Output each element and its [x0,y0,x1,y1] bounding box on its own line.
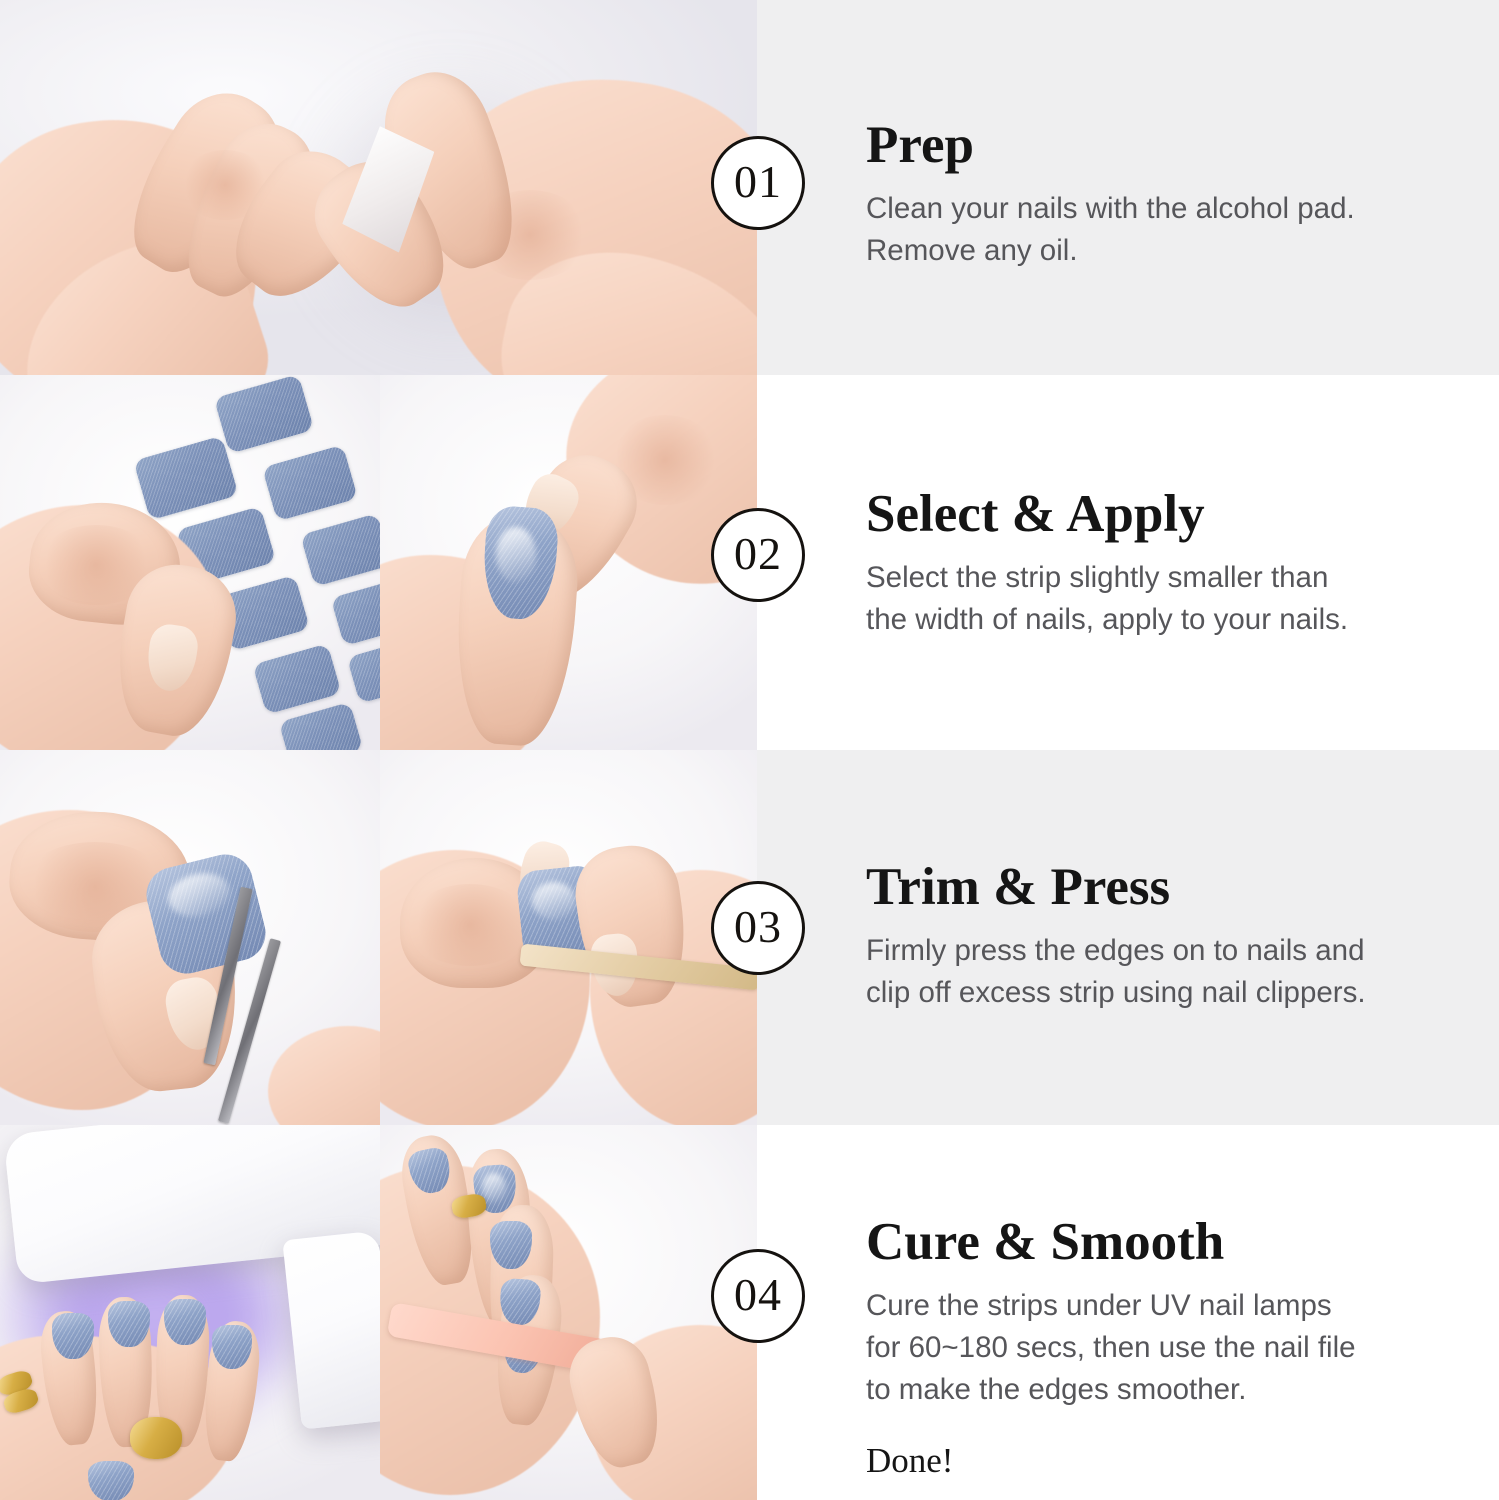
step-4-photo-group [0,1125,757,1500]
step-2-photo-group [0,375,757,750]
photo-nail-strip-sheet [0,375,380,750]
nail-gloss [496,527,536,583]
step-3-body-line: clip off excess strip using nail clipper… [866,972,1426,1014]
step-3-body: Firmly press the edges on to nails and c… [866,930,1426,1014]
step-1-copy: Prep Clean your nails with the alcohol p… [866,118,1426,272]
nail-gloss [532,882,576,920]
step-1-body-line: Remove any oil. [866,230,1426,272]
nail-gloss [482,1173,506,1203]
right-knuckle [470,190,590,280]
step-number-badge-4: 04 [711,1249,805,1343]
step-3-heading: Trim & Press [866,860,1426,916]
step-2-body-line: the width of nails, apply to your nails. [866,599,1426,641]
step-3-copy: Trim & Press Firmly press the edges on t… [866,860,1426,1014]
step-4-body-line: to make the edges smoother. [866,1369,1426,1411]
step-1-body-line: Clean your nails with the alcohol pad. [866,188,1426,230]
step-4-copy: Cure & Smooth Cure the strips under UV n… [866,1215,1426,1481]
photo-prep-alcohol-pad [0,0,757,375]
step-1-body: Clean your nails with the alcohol pad. R… [866,188,1426,272]
step-2-copy: Select & Apply Select the strip slightly… [866,487,1426,641]
gold-statement-ring [130,1417,182,1459]
step-2-body-line: Select the strip slightly smaller than [866,557,1426,599]
photo-apply-strip-to-nail [380,375,757,750]
step-4-footnote: Done! [866,1441,1426,1481]
step-1-heading: Prep [866,118,1426,174]
step-2-body: Select the strip slightly smaller than t… [866,557,1426,641]
step-1-photo-group [0,0,757,375]
step-4-heading: Cure & Smooth [866,1215,1426,1271]
step-number-badge-1: 01 [711,136,805,230]
photo-trim-with-scissors [0,750,380,1125]
photo-uv-lamp-curing [0,1125,380,1500]
photo-filing-nail-edges [380,1125,757,1500]
photo-press-with-wooden-stick [380,750,757,1125]
cured-nail-thumb [88,1461,134,1500]
nail-strip-instruction-infographic: 01 02 03 04 Prep Clean your nails with t… [0,0,1499,1500]
step-number-badge-3: 03 [711,881,805,975]
step-3-body-line: Firmly press the edges on to nails and [866,930,1426,972]
step-4-body-line: for 60~180 secs, then use the nail file [866,1327,1426,1369]
step-2-heading: Select & Apply [866,487,1426,543]
knuckle [610,415,720,505]
step-4-body: Cure the strips under UV nail lamps for … [866,1285,1426,1411]
step-4-body-line: Cure the strips under UV nail lamps [866,1285,1426,1327]
step-number-badge-2: 02 [711,508,805,602]
step-3-photo-group [0,750,757,1125]
left-knuckle [408,884,532,966]
